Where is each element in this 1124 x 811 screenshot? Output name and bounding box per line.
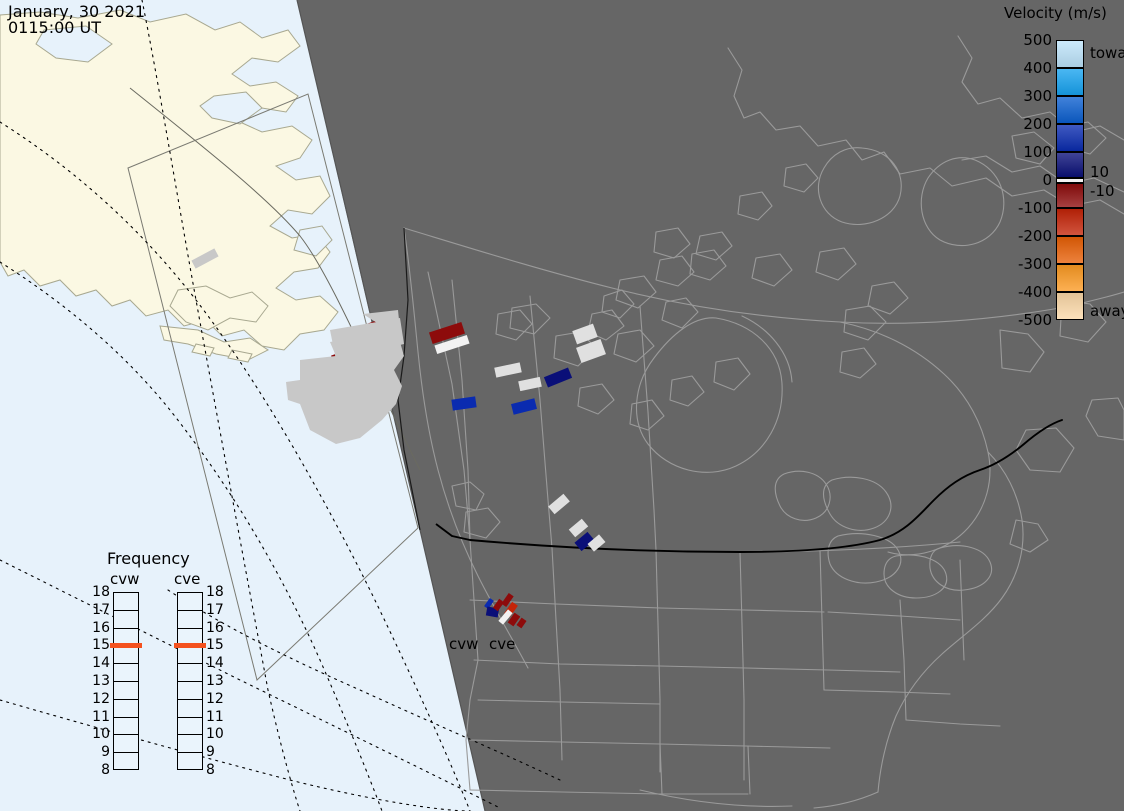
frequency-marker-cvw xyxy=(110,643,142,648)
frequency-marker-cve xyxy=(174,643,206,648)
radar-map-canvas: January, 30 2021 0115:00 UT Velocity (m/… xyxy=(0,0,1124,811)
site-label-cve: cve xyxy=(489,635,515,653)
frequency-markers xyxy=(0,0,1124,811)
site-label-cvw: cvw xyxy=(449,635,478,653)
